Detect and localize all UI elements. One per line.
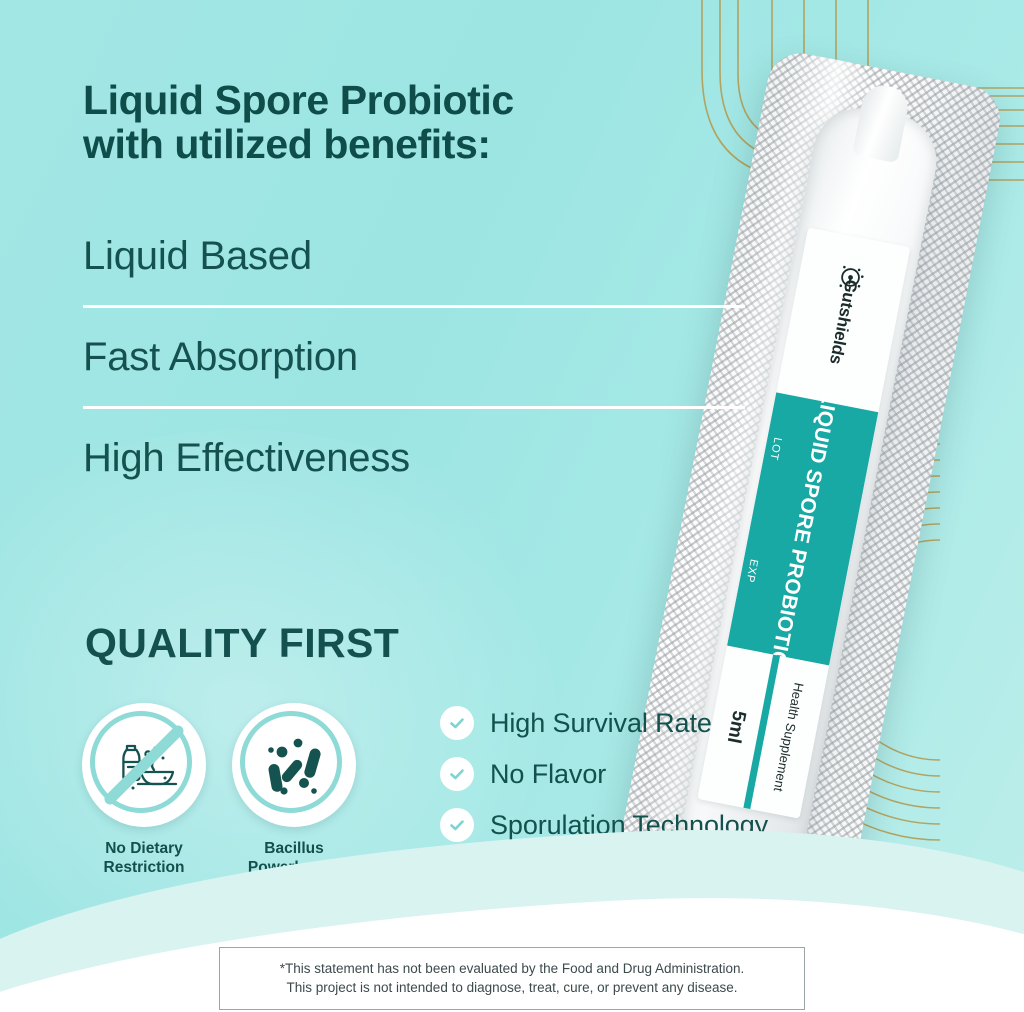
product-infographic: Gutshields LOT EXP LIQUID SPORE PROBIOTI… — [0, 0, 1024, 1012]
badge-circle — [82, 703, 206, 827]
benefits-list: Liquid Based Fast Absorption High Effect… — [83, 207, 745, 507]
label-product-title: LIQUID SPORE PROBIOTIC — [765, 390, 840, 669]
label-exp-text: EXP — [744, 558, 760, 584]
badge-no-dietary-restriction: No Dietary Restriction — [82, 703, 206, 878]
badge-ring — [240, 711, 342, 813]
benefit-item: Liquid Based — [83, 207, 745, 305]
check-icon — [440, 706, 474, 740]
disclaimer-line-1: *This statement has not been evaluated b… — [234, 959, 790, 978]
badge-caption: No Dietary Restriction — [82, 840, 206, 878]
check-icon — [440, 808, 474, 842]
headline-line-2: with utilized benefits: — [83, 122, 703, 166]
quality-first-title: QUALITY FIRST — [85, 620, 399, 667]
label-brand-name: Gutshields — [825, 278, 861, 366]
disclaimer-box: *This statement has not been evaluated b… — [219, 947, 805, 1010]
disclaimer-line-2: This project is not intended to diagnose… — [234, 978, 790, 997]
badge-caption-line-1: No Dietary — [82, 840, 206, 859]
checklist-item: No Flavor — [440, 749, 860, 799]
badge-bacillus-powerhouse: Bacillus Powerhouse — [232, 703, 356, 878]
prohibition-slash-icon — [82, 703, 206, 827]
benefit-item: High Effectiveness — [83, 406, 745, 507]
checklist-label: No Flavor — [490, 759, 606, 790]
badge-caption-line-2: Restriction — [82, 859, 206, 878]
label-lot-text: LOT — [767, 436, 783, 461]
headline-block: Liquid Spore Probiotic with utilized ben… — [83, 78, 703, 167]
badge-circle — [232, 703, 356, 827]
label-brand-zone: Gutshields — [776, 227, 910, 412]
quality-badges: No Dietary Restriction — [82, 703, 356, 878]
checklist-label: High Survival Rate — [490, 708, 712, 739]
check-icon — [440, 757, 474, 791]
benefit-item: Fast Absorption — [83, 305, 745, 406]
headline-line-1: Liquid Spore Probiotic — [83, 78, 703, 122]
checklist-item: High Survival Rate — [440, 698, 860, 748]
badge-caption-line-1: Bacillus — [232, 840, 356, 859]
